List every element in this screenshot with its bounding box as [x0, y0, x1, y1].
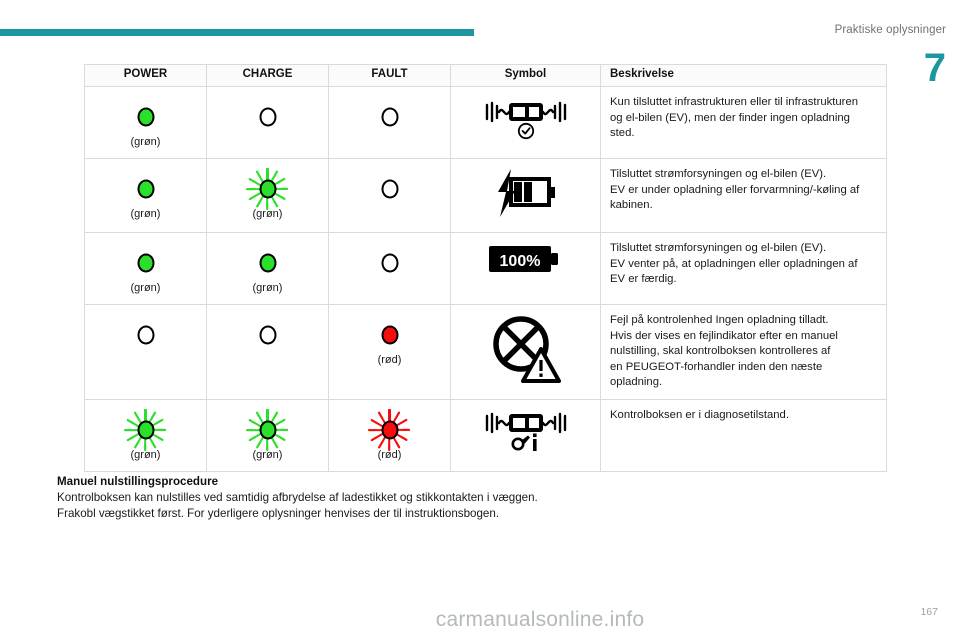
manual-page: Praktiske oplysninger 7 POWER CHARGE FAU… — [0, 0, 960, 640]
led-indicator-fault: (rød) — [331, 413, 448, 461]
status-table-container: POWER CHARGE FAULT Symbol Beskrivelse (g… — [84, 64, 886, 472]
cell-symbol: 100% — [451, 233, 601, 305]
control-box-check-icon — [483, 95, 569, 141]
led-charge-off — [245, 318, 291, 352]
description-line: kabinen. — [610, 198, 876, 214]
manual-reset-section: Manuel nulstillingsprocedure Kontrolboks… — [57, 474, 877, 522]
cell-description: Kun tilsluttet infrastrukturen eller til… — [601, 87, 887, 159]
cell-fault: (rød) — [329, 305, 451, 400]
cell-fault — [329, 233, 451, 305]
column-header-symbol: Symbol — [451, 65, 601, 87]
led-lamp — [381, 108, 398, 127]
description-line: nulstilling, skal kontrolboksen kontroll… — [610, 344, 876, 360]
no-charging-warning-icon — [489, 313, 563, 385]
cell-description: Kontrolboksen er i diagnosetilstand. — [601, 399, 887, 471]
led-indicator-charge: (grøn) — [209, 172, 326, 220]
table-header-row: POWER CHARGE FAULT Symbol Beskrivelse — [85, 65, 887, 87]
cell-charge: (grøn) — [207, 159, 329, 233]
battery-charging-icon — [491, 167, 561, 219]
column-header-description: Beskrivelse — [601, 65, 887, 87]
led-lamp — [381, 180, 398, 199]
led-power-on — [123, 172, 169, 206]
led-power-blinking — [123, 413, 169, 447]
description-line: Fejl på kontrolenhed Ingen opladning til… — [610, 313, 876, 329]
cell-power — [85, 305, 207, 400]
led-indicator-charge — [209, 318, 326, 366]
led-color-label: (grøn) — [87, 208, 204, 220]
led-indicator-charge — [209, 100, 326, 148]
led-lamp — [381, 254, 398, 273]
cell-power: (grøn) — [85, 87, 207, 159]
led-lamp — [137, 108, 154, 127]
cell-symbol — [451, 87, 601, 159]
table-row: (grøn)(grøn) 100% Tilsluttet strømforsyn… — [85, 233, 887, 305]
led-power-on — [123, 100, 169, 134]
led-color-label: (grøn) — [87, 282, 204, 294]
led-indicator-charge: (grøn) — [209, 413, 326, 461]
description-line: Tilsluttet strømforsyningen og el-bilen … — [610, 241, 876, 257]
led-fault-off — [367, 172, 413, 206]
cell-symbol — [451, 399, 601, 471]
led-color-label: (grøn) — [209, 282, 326, 294]
description-line: Tilsluttet strømforsyningen og el-bilen … — [610, 167, 876, 183]
description-line: sted. — [610, 126, 876, 142]
led-status-table: POWER CHARGE FAULT Symbol Beskrivelse (g… — [84, 64, 887, 472]
chapter-number: 7 — [924, 48, 946, 88]
led-fault-blinking — [367, 413, 413, 447]
led-lamp — [137, 180, 154, 199]
watermark: carmanualsonline.info — [0, 608, 960, 632]
cell-charge — [207, 305, 329, 400]
led-indicator-power: (grøn) — [87, 246, 204, 294]
led-lamp — [259, 420, 276, 439]
svg-text:100%: 100% — [499, 253, 540, 270]
cell-fault: (rød) — [329, 399, 451, 471]
led-lamp — [137, 420, 154, 439]
cell-charge — [207, 87, 329, 159]
led-indicator-power — [87, 318, 204, 366]
led-charge-blinking — [245, 172, 291, 206]
column-header-charge: CHARGE — [207, 65, 329, 87]
manual-reset-title: Manuel nulstillingsprocedure — [57, 474, 877, 490]
led-power-on — [123, 246, 169, 280]
led-lamp — [381, 420, 398, 439]
led-color-label: (rød) — [331, 354, 448, 366]
led-charge-off — [245, 100, 291, 134]
cell-power: (grøn) — [85, 159, 207, 233]
cell-power: (grøn) — [85, 233, 207, 305]
table-row: (rød) Fejl på kontrolenhed Ingen opladni… — [85, 305, 887, 400]
no-charging-warning-icon — [489, 313, 563, 385]
led-indicator-fault — [331, 100, 448, 148]
table-row: (grøn)(grøn)(rød) Kontrolboksen er i dia… — [85, 399, 887, 471]
description-line: EV venter på, at opladningen eller oplad… — [610, 257, 876, 273]
description-line: EV er færdig. — [610, 272, 876, 288]
control-box-diagnostic-icon — [483, 408, 569, 456]
led-indicator-power: (grøn) — [87, 172, 204, 220]
cell-symbol — [451, 159, 601, 233]
column-header-power: POWER — [85, 65, 207, 87]
manual-reset-line-2: Frakobl vægstikket først. For yderligere… — [57, 506, 877, 522]
cell-symbol — [451, 305, 601, 400]
led-indicator-power: (grøn) — [87, 413, 204, 461]
table-row: (grøn) Kun tilsluttet infrastrukturen el… — [85, 87, 887, 159]
led-indicator-charge: (grøn) — [209, 246, 326, 294]
led-indicator-power: (grøn) — [87, 100, 204, 148]
led-lamp — [137, 254, 154, 273]
led-lamp — [381, 326, 398, 345]
description-line: Kontrolboksen er i diagnosetilstand. — [610, 408, 876, 424]
cell-fault — [329, 87, 451, 159]
led-fault-off — [367, 246, 413, 280]
led-charge-on — [245, 246, 291, 280]
table-body: (grøn) Kun tilsluttet infrastrukturen el… — [85, 87, 887, 472]
manual-reset-line-1: Kontrolboksen kan nulstilles ved samtidi… — [57, 490, 877, 506]
led-indicator-fault: (rød) — [331, 318, 448, 366]
led-color-label: (grøn) — [87, 136, 204, 148]
description-line: en PEUGEOT-forhandler inden den næste — [610, 360, 876, 376]
led-lamp — [259, 254, 276, 273]
led-charge-blinking — [245, 413, 291, 447]
battery-full-icon: 100% — [487, 241, 565, 277]
page-number: 167 — [920, 606, 938, 618]
description-line: EV er under opladning eller forvarmning/… — [610, 183, 876, 199]
led-lamp — [259, 108, 276, 127]
led-fault-on — [367, 318, 413, 352]
description-line: og el-bilen (EV), men der finder ingen o… — [610, 111, 876, 127]
cell-description: Fejl på kontrolenhed Ingen opladning til… — [601, 305, 887, 400]
led-lamp — [259, 180, 276, 199]
cell-fault — [329, 159, 451, 233]
battery-charging-icon — [491, 167, 561, 219]
led-lamp — [259, 326, 276, 345]
section-title: Praktiske oplysninger — [835, 24, 946, 36]
led-indicator-fault — [331, 246, 448, 294]
cell-description: Tilsluttet strømforsyningen og el-bilen … — [601, 159, 887, 233]
control-box-check-icon — [483, 95, 569, 141]
led-power-off — [123, 318, 169, 352]
led-fault-off — [367, 100, 413, 134]
table-row: (grøn)(grøn) Tilsluttet strømforsyningen… — [85, 159, 887, 233]
description-line: Kun tilsluttet infrastrukturen eller til… — [610, 95, 876, 111]
cell-power: (grøn) — [85, 399, 207, 471]
cell-description: Tilsluttet strømforsyningen og el-bilen … — [601, 233, 887, 305]
led-lamp — [137, 326, 154, 345]
header-accent-bar — [0, 29, 474, 36]
description-line: Hvis der vises en fejlindikator efter en… — [610, 329, 876, 345]
cell-charge: (grøn) — [207, 399, 329, 471]
column-header-fault: FAULT — [329, 65, 451, 87]
cell-charge: (grøn) — [207, 233, 329, 305]
description-line: opladning. — [610, 375, 876, 391]
led-indicator-fault — [331, 172, 448, 220]
battery-full-icon: 100% — [487, 241, 565, 277]
control-box-diagnostic-icon — [483, 408, 569, 456]
